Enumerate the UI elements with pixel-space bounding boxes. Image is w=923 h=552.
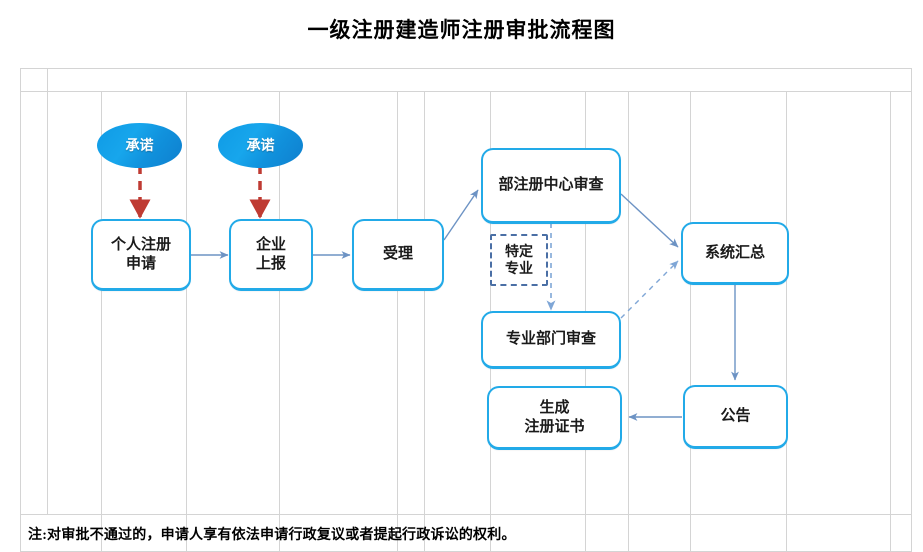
node-generate-certificate[interactable]: 生成 注册证书 bbox=[487, 386, 622, 450]
node-acceptance[interactable]: 受理 bbox=[352, 219, 444, 291]
node-professional-department-review[interactable]: 专业部门审查 bbox=[481, 311, 621, 369]
node-enterprise-report[interactable]: 企业 上报 bbox=[229, 219, 313, 291]
node-ministry-registration-center-review[interactable]: 部注册中心审查 bbox=[481, 148, 621, 224]
node-announcement[interactable]: 公告 bbox=[683, 385, 788, 449]
node-enterprise-report-label-line2: 上报 bbox=[256, 255, 286, 273]
node-generate-certificate-label-line2: 注册证书 bbox=[524, 418, 584, 436]
node-personal-application[interactable]: 个人注册 申请 bbox=[91, 219, 191, 291]
node-personal-application-label-line2: 申请 bbox=[111, 255, 171, 273]
node-specific-major-label-line2: 专业 bbox=[505, 260, 533, 277]
footer-note: 注:对审批不通过的，申请人享有依法申请行政复议或者提起行政诉讼的权利。 bbox=[28, 524, 516, 544]
node-specific-major-label-line1: 特定 bbox=[505, 243, 533, 260]
edge-acceptance-to-ministry-review bbox=[444, 190, 478, 240]
node-generate-certificate-label-line1: 生成 bbox=[524, 399, 584, 417]
node-promise-1[interactable]: 承诺 bbox=[97, 123, 182, 168]
node-personal-application-label-line1: 个人注册 bbox=[111, 236, 171, 254]
page-title: 一级注册建造师注册审批流程图 bbox=[0, 14, 923, 44]
node-promise-2[interactable]: 承诺 bbox=[218, 123, 303, 168]
node-acceptance-label: 受理 bbox=[383, 245, 413, 263]
node-professional-department-review-label: 专业部门审查 bbox=[506, 330, 596, 348]
flowchart-page: 一级注册建造师注册审批流程图 承诺 承诺 个人注册 申请 企业 上报 受理 部注… bbox=[0, 0, 923, 552]
edge-professional-review-to-system-summary bbox=[621, 261, 678, 318]
node-promise-1-label: 承诺 bbox=[126, 137, 154, 154]
node-ministry-registration-center-review-label: 部注册中心审查 bbox=[498, 176, 603, 194]
node-specific-major[interactable]: 特定 专业 bbox=[490, 234, 548, 286]
node-promise-2-label: 承诺 bbox=[247, 137, 275, 154]
node-enterprise-report-label-line1: 企业 bbox=[256, 236, 286, 254]
node-system-summary[interactable]: 系统汇总 bbox=[681, 222, 789, 285]
node-announcement-label: 公告 bbox=[720, 407, 750, 425]
edge-ministry-review-to-system-summary bbox=[621, 194, 678, 247]
node-system-summary-label: 系统汇总 bbox=[705, 244, 765, 262]
